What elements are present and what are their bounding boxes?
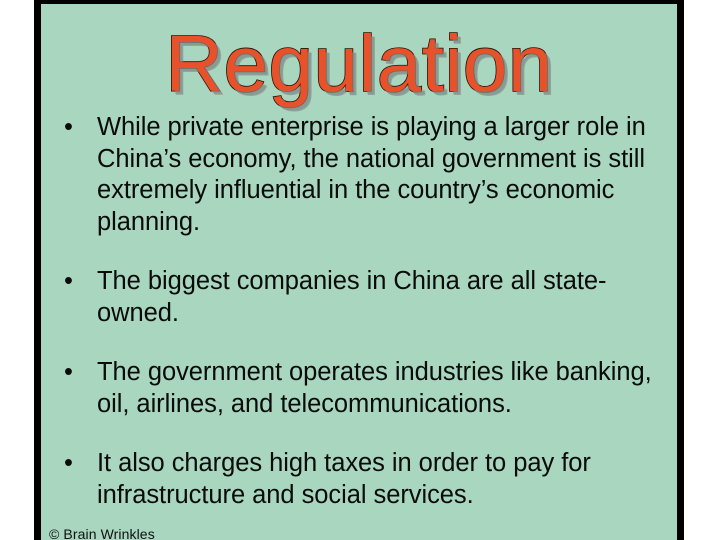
list-item: • The biggest companies in China are all… — [51, 266, 669, 329]
copyright-credit: © Brain Wrinkles — [49, 526, 155, 540]
list-item-text: It also charges high taxes in order to p… — [97, 448, 669, 511]
page-title: Regulation — [41, 20, 677, 108]
bullet-point-icon: • — [64, 266, 84, 298]
list-item: • It also charges high taxes in order to… — [51, 448, 669, 511]
list-item-text: The biggest companies in China are all s… — [97, 266, 669, 329]
list-item-text: The government operates industries like … — [97, 357, 669, 420]
bullet-list: • While private enterprise is playing a … — [51, 112, 669, 511]
bullet-point-icon: • — [64, 112, 84, 144]
list-item: • The government operates industries lik… — [51, 357, 669, 420]
bullet-point-icon: • — [64, 448, 84, 480]
slide-frame: Regulation • While private enterprise is… — [34, 0, 684, 540]
list-item: • While private enterprise is playing a … — [51, 112, 669, 238]
bullet-point-icon: • — [64, 357, 84, 389]
list-item-text: While private enterprise is playing a la… — [97, 112, 669, 238]
slide-root: Regulation • While private enterprise is… — [0, 0, 720, 540]
